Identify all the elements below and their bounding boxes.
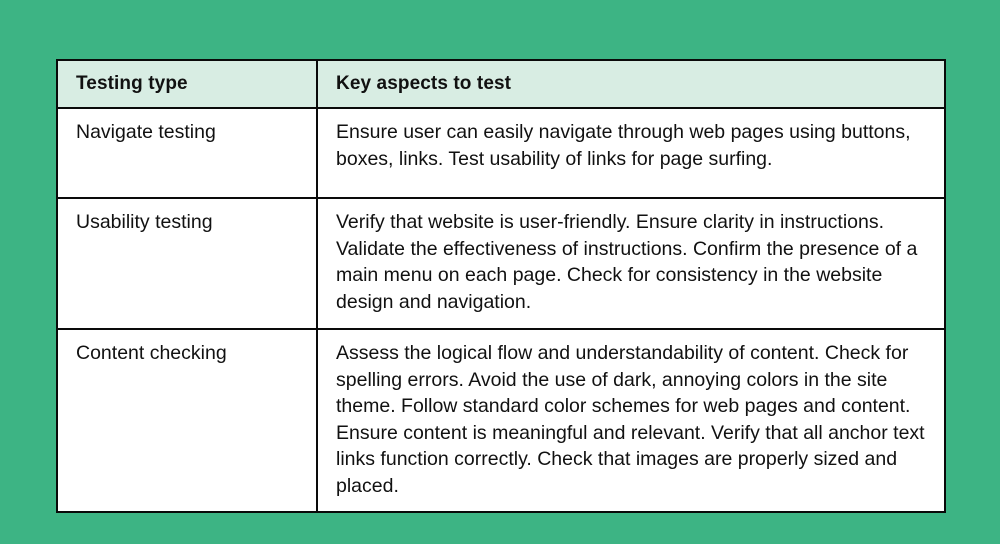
table-container: Testing type Key aspects to test Navigat… — [56, 59, 944, 513]
column-header-testing-type: Testing type — [57, 60, 317, 108]
cell-testing-type: Usability testing — [57, 198, 317, 329]
cell-testing-type: Navigate testing — [57, 108, 317, 198]
table-body: Navigate testing Ensure user can easily … — [57, 108, 945, 512]
cell-key-aspects: Verify that website is user-friendly. En… — [317, 198, 945, 329]
cell-key-aspects: Assess the logical flow and understandab… — [317, 329, 945, 512]
table-header-row: Testing type Key aspects to test — [57, 60, 945, 108]
cell-key-aspects: Ensure user can easily navigate through … — [317, 108, 945, 198]
table-row: Navigate testing Ensure user can easily … — [57, 108, 945, 198]
table-row: Usability testing Verify that website is… — [57, 198, 945, 329]
page-root: Testing type Key aspects to test Navigat… — [0, 0, 1000, 544]
table-row: Content checking Assess the logical flow… — [57, 329, 945, 512]
cell-testing-type: Content checking — [57, 329, 317, 512]
testing-types-table: Testing type Key aspects to test Navigat… — [56, 59, 946, 513]
column-header-key-aspects: Key aspects to test — [317, 60, 945, 108]
table-header: Testing type Key aspects to test — [57, 60, 945, 108]
